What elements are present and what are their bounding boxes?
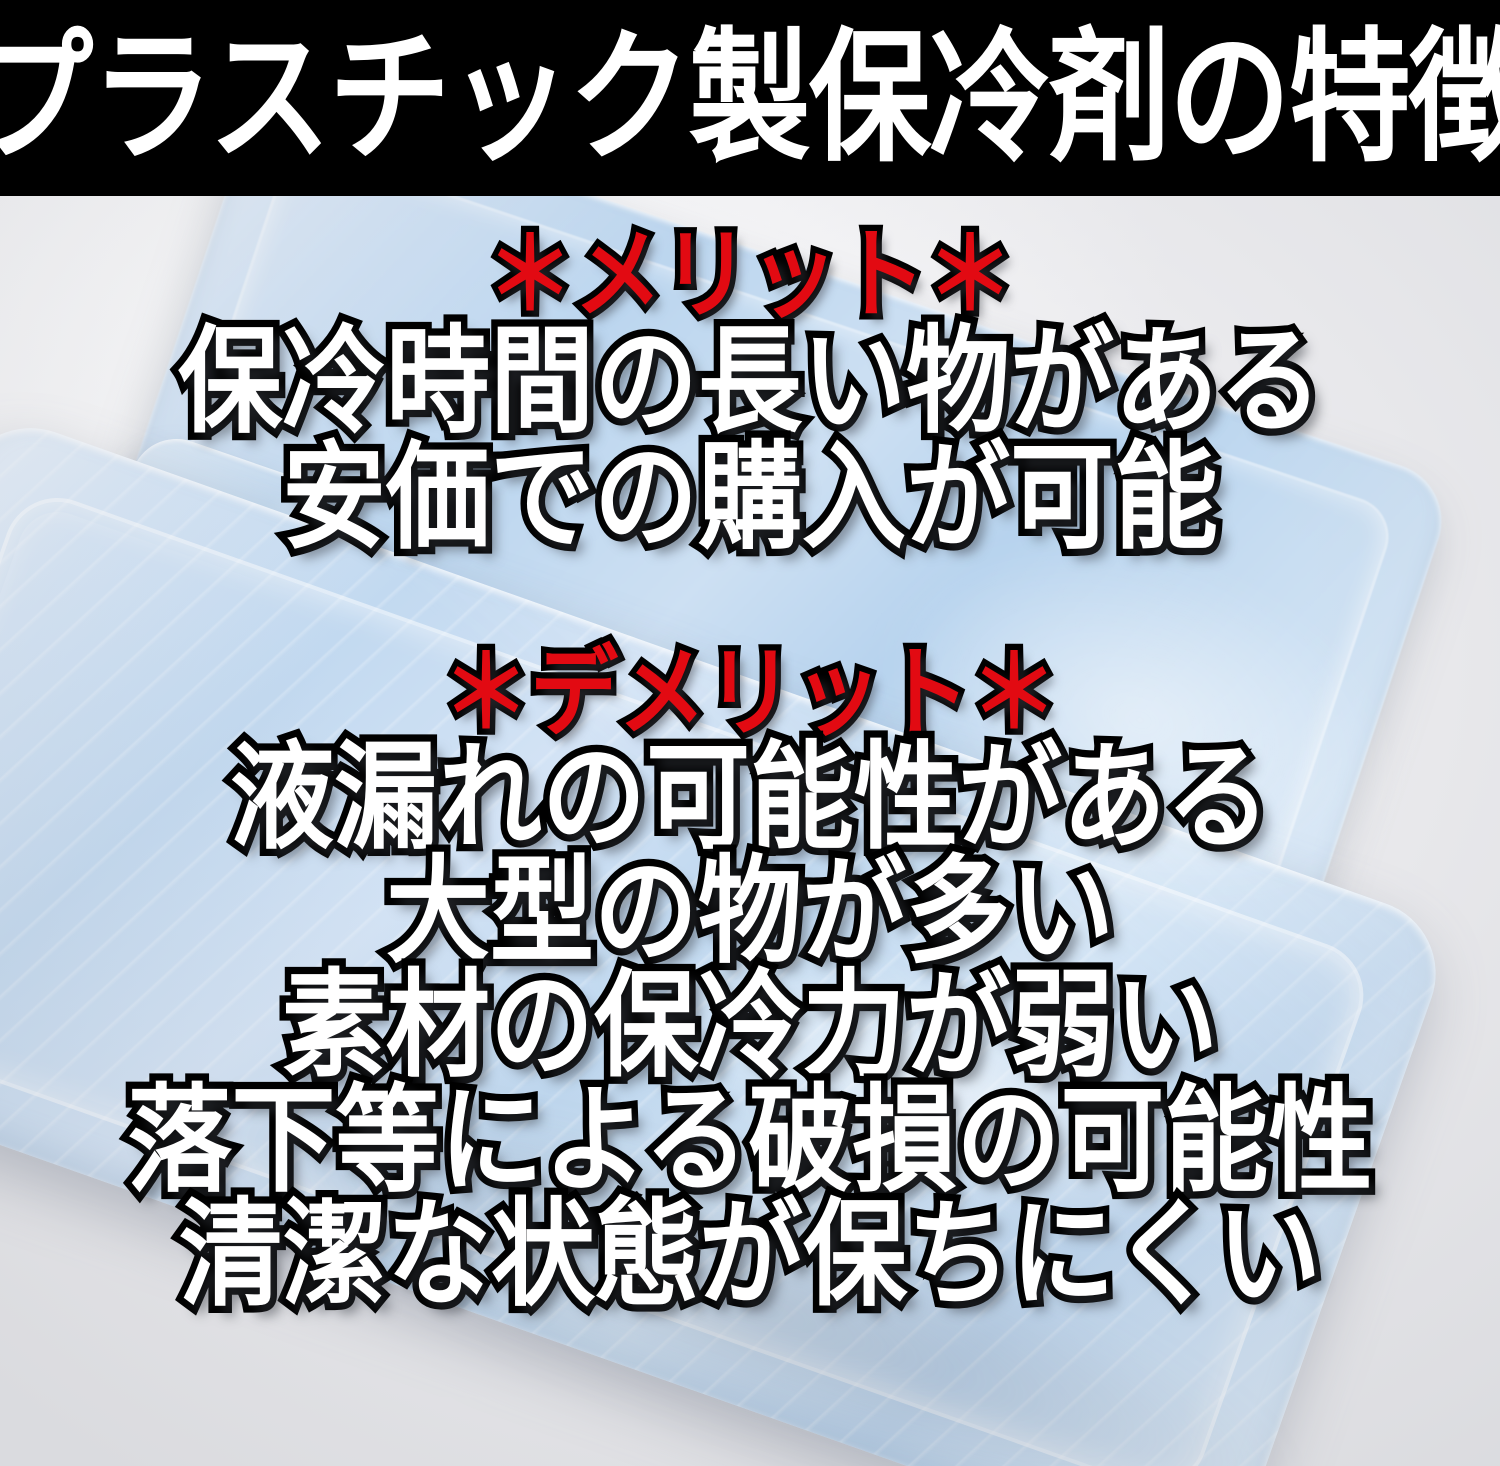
demerit-line-3: 素材の保冷力が弱い [282,964,1218,1087]
poster-root: プラスチック製保冷剤の特徴 ＊メリット＊ 保冷時間の長い物がある 安価での購入が… [0,0,1500,1466]
merit-line-1: 保冷時間の長い物がある [178,319,1322,442]
demerit-line-2: 大型の物が多い [386,850,1114,973]
merit-section: ＊メリット＊ 保冷時間の長い物がある 安価での購入が可能 [178,230,1322,552]
page-title: プラスチック製保冷剤の特徴 [0,26,1500,170]
merit-heading: ＊メリット＊ [486,225,1014,326]
demerit-section: ＊デメリット＊ 液漏れの可能性がある 大型の物が多い 素材の保冷力が弱い 落下等… [128,648,1373,1309]
demerit-line-5: 清潔な状態が保ちにくい [179,1192,1321,1315]
header-banner: プラスチック製保冷剤の特徴 [0,0,1500,196]
demerit-line-1: 液漏れの可能性がある [230,735,1270,858]
demerit-line-4: 落下等による破損の可能性 [128,1078,1373,1201]
merit-line-2: 安価での購入が可能 [282,435,1218,558]
content-area: ＊メリット＊ 保冷時間の長い物がある 安価での購入が可能 ＊デメリット＊ 液漏れ… [0,196,1500,1466]
